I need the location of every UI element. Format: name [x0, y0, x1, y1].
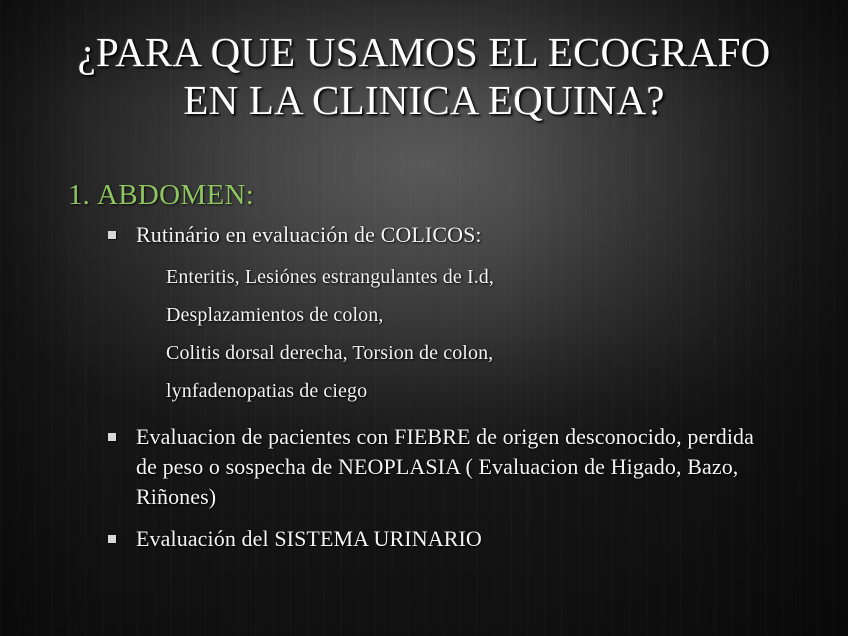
sub-list-item: Desplazamientos de colon,	[0, 296, 848, 334]
slide-title: ¿PARA QUE USAMOS EL ECOGRAFO EN LA CLINI…	[0, 28, 848, 124]
slide-content: ¿PARA QUE USAMOS EL ECOGRAFO EN LA CLINI…	[0, 0, 848, 636]
sub-list-item-label: Desplazamientos de colon,	[166, 304, 383, 326]
section-number: 1.	[68, 176, 90, 214]
list-item-label: Evaluacion de pacientes con FIEBRE de or…	[136, 424, 754, 509]
slide-title-line-1: ¿PARA QUE USAMOS EL ECOGRAFO	[0, 28, 848, 76]
list-item: Evaluación del SISTEMA URINARIO	[0, 524, 848, 554]
sub-list-item-label: Enteritis, Lesiónes estrangulantes de I.…	[166, 266, 494, 288]
sub-list-item: Enteritis, Lesiónes estrangulantes de I.…	[0, 258, 848, 296]
section-heading-abdomen: 1. ABDOMEN:	[0, 176, 848, 214]
list-item-label: Evaluación del SISTEMA URINARIO	[136, 526, 482, 551]
spacer	[0, 512, 848, 520]
square-bullet-icon	[108, 433, 116, 441]
sub-list-item-label: Colitis dorsal derecha, Torsion de colon…	[166, 342, 493, 364]
sub-list-item-label: lynfadenopatias de ciego	[166, 380, 367, 402]
sub-list-item: Colitis dorsal derecha, Torsion de colon…	[0, 334, 848, 372]
square-bullet-icon	[108, 231, 116, 239]
sub-list-item: lynfadenopatias de ciego	[0, 372, 848, 410]
list-item-label: Rutinário en evaluación de COLICOS:	[136, 222, 482, 247]
presentation-slide: ¿PARA QUE USAMOS EL ECOGRAFO EN LA CLINI…	[0, 0, 848, 636]
spacer	[0, 410, 848, 418]
square-bullet-icon	[108, 535, 116, 543]
list-item: Evaluacion de pacientes con FIEBRE de or…	[0, 422, 848, 512]
list-item: Rutinário en evaluación de COLICOS:	[0, 220, 848, 250]
section-heading-label: ABDOMEN:	[97, 176, 254, 214]
slide-title-line-2: EN LA CLINICA EQUINA?	[0, 76, 848, 124]
slide-body: 1. ABDOMEN: Rutinário en evaluación de C…	[0, 176, 848, 554]
spacer	[0, 250, 848, 258]
